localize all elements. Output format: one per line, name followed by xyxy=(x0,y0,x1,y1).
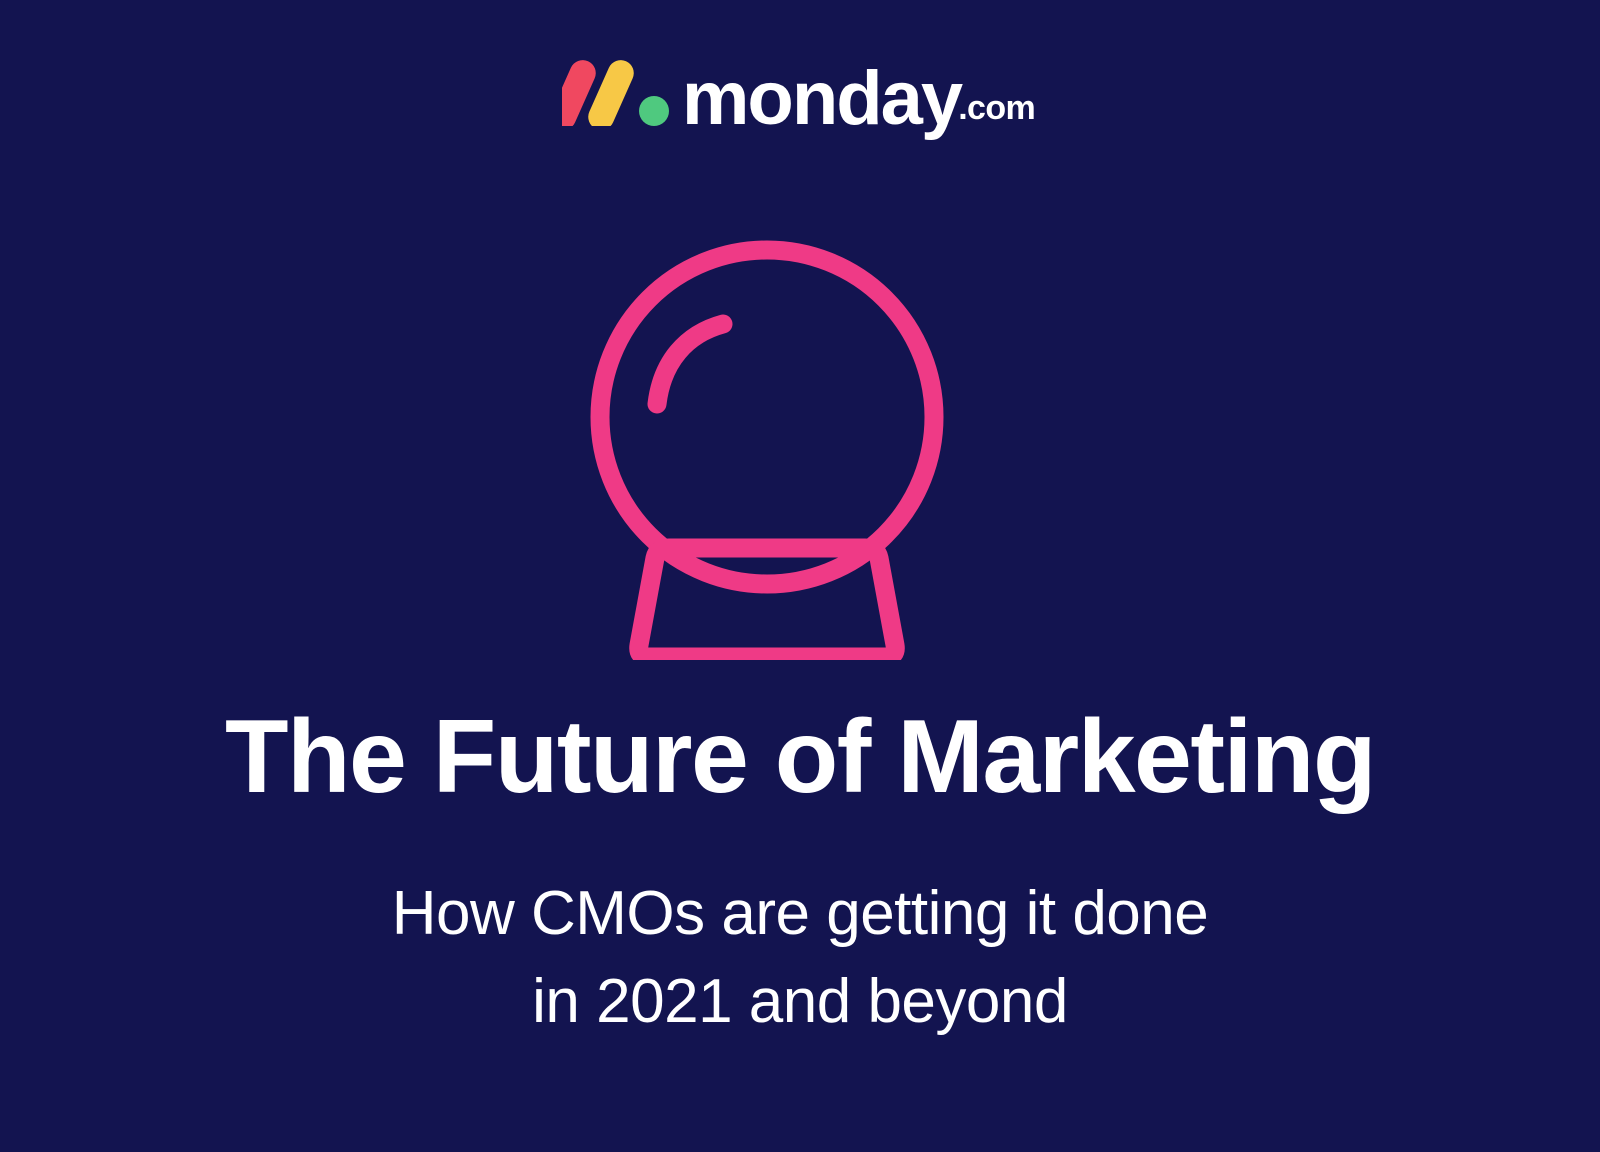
page-title: The Future of Marketing xyxy=(0,700,1600,814)
monday-logo-mark-icon xyxy=(562,50,674,126)
crystal-ball-icon xyxy=(560,240,980,660)
page-subtitle: How CMOs are getting it done in 2021 and… xyxy=(0,870,1600,1046)
monday-com-logo: monday .com xyxy=(0,40,1600,126)
page-subtitle-line-2: in 2021 and beyond xyxy=(0,958,1600,1046)
crystal-ball-highlight-arc xyxy=(657,324,723,404)
monday-wordmark: monday xyxy=(682,68,961,130)
hero-text-block: The Future of Marketing How CMOs are get… xyxy=(0,700,1600,1046)
monday-tld-suffix: .com xyxy=(958,89,1035,128)
presentation-cover-slide: monday .com The Future of Marketing How … xyxy=(0,0,1600,1152)
page-subtitle-line-1: How CMOs are getting it done xyxy=(0,870,1600,958)
crystal-ball-sphere xyxy=(600,250,934,584)
